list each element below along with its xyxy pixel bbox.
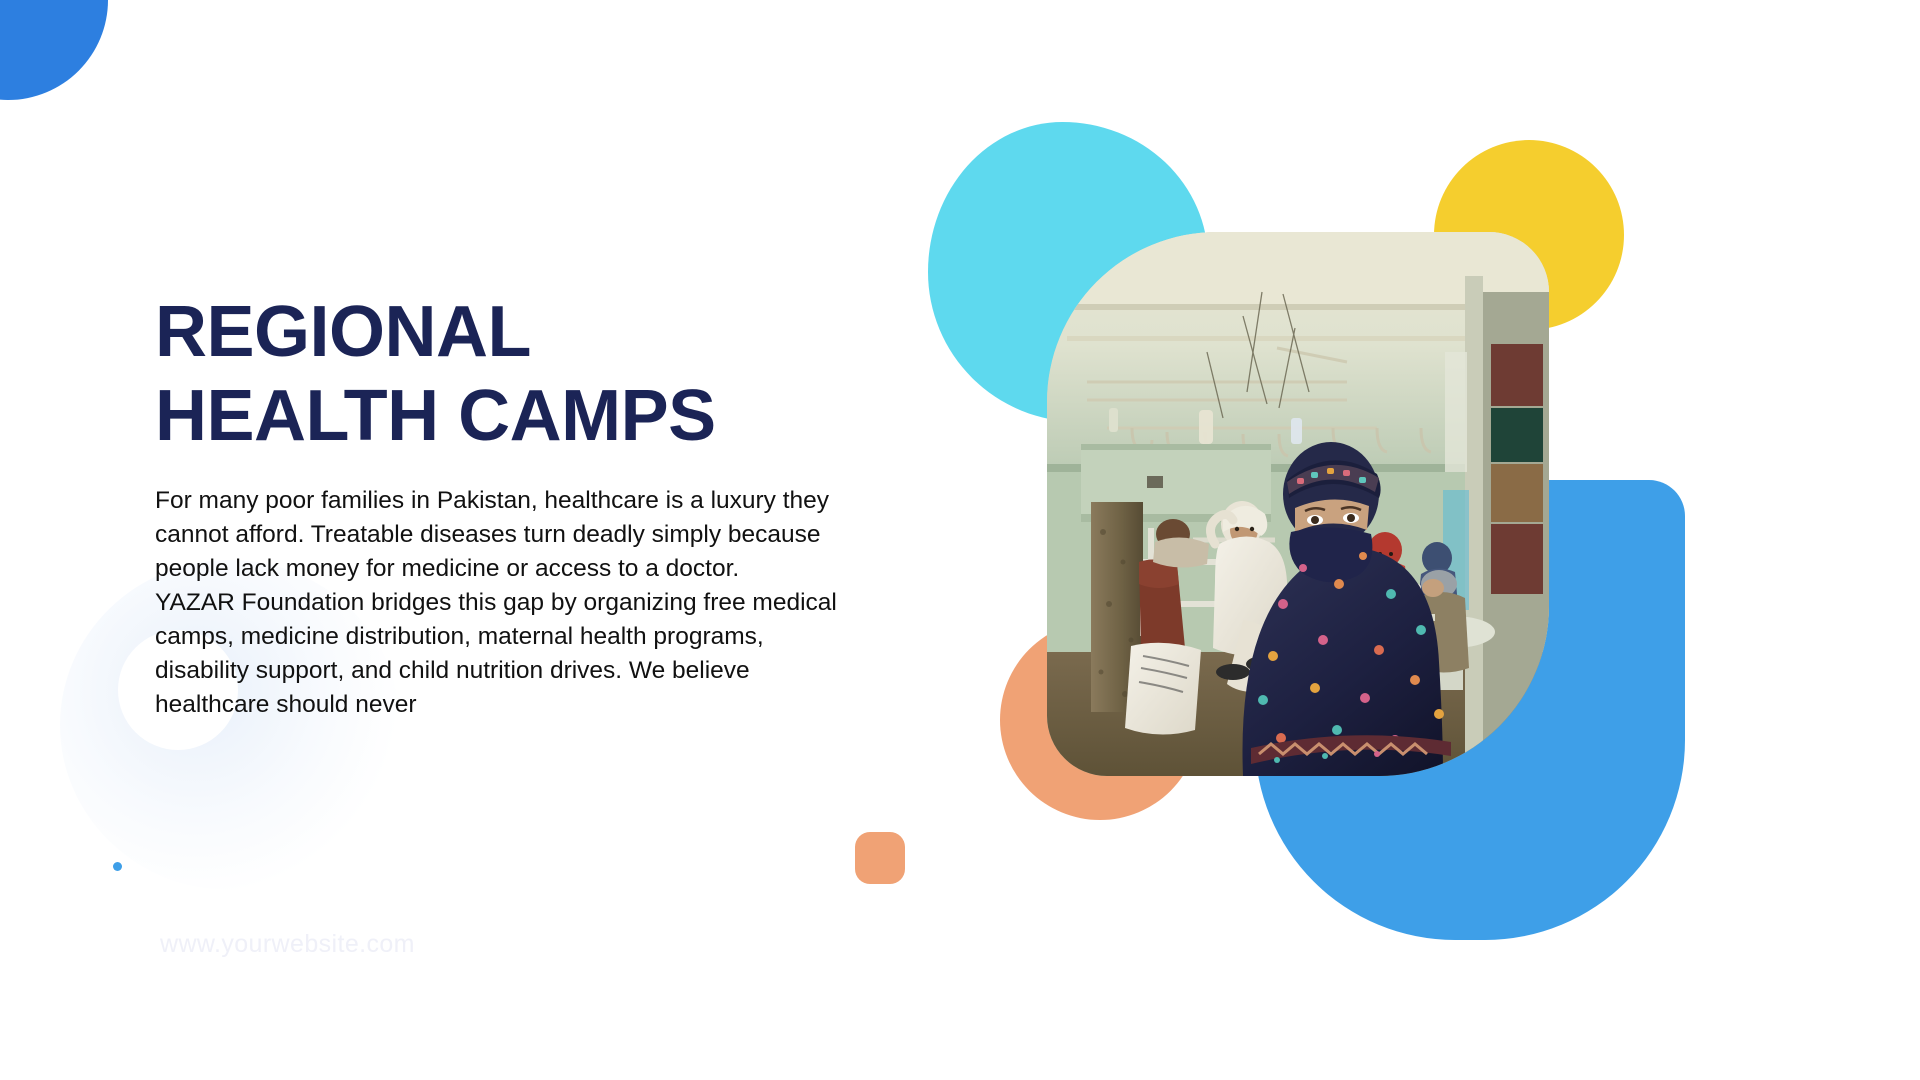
corner-blue-blob-shape	[0, 0, 108, 100]
orange-chip-shape	[855, 832, 905, 884]
health-camp-photo	[1047, 232, 1549, 776]
body-paragraph-2: YAZAR Foundation bridges this gap by org…	[155, 586, 845, 722]
body-paragraph-1: For many poor families in Pakistan, heal…	[155, 484, 845, 586]
blue-dot-shape	[113, 862, 122, 871]
headline-line-1: REGIONAL	[155, 290, 875, 374]
website-footer[interactable]: www.yourwebsite.com	[160, 930, 415, 959]
body-copy: For many poor families in Pakistan, heal…	[155, 484, 845, 722]
headline-line-2: HEALTH CAMPS	[155, 374, 875, 458]
text-content-block: REGIONAL HEALTH CAMPS For many poor fami…	[155, 290, 875, 722]
slide-canvas: REGIONAL HEALTH CAMPS For many poor fami…	[0, 0, 1920, 1080]
page-title: REGIONAL HEALTH CAMPS	[155, 290, 875, 458]
photo-illustration	[1047, 232, 1549, 776]
